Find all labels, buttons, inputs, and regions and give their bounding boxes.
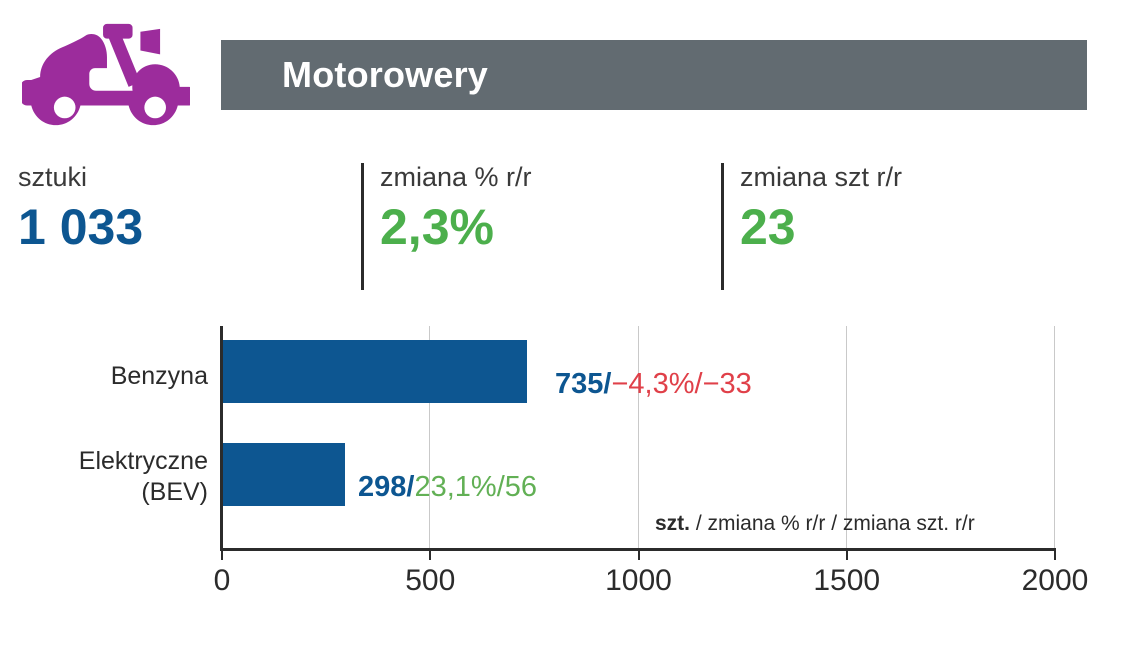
bar-benzyna[interactable] — [221, 340, 527, 403]
legend-unit: szt. — [655, 512, 690, 535]
kpi-change-abs: zmiana szt r/r 23 — [740, 160, 902, 258]
category-axis-labels: Benzyna Elektryczne (BEV) — [0, 300, 208, 550]
kpi-total: sztuki 1 033 — [18, 160, 143, 258]
gridline-1000 — [638, 326, 639, 548]
x-tick-1500 — [846, 551, 848, 560]
y-axis-line — [220, 326, 223, 550]
section-title-bar: Motorowery — [221, 40, 1087, 110]
page-title: Motorowery — [282, 54, 488, 96]
x-tick-1000 — [638, 551, 640, 560]
x-tick-500 — [429, 551, 431, 560]
chart-legend: szt. / zmiana % r/r / zmiana szt. r/r — [655, 512, 975, 536]
category-label-elektryczne: Elektryczne (BEV) — [18, 446, 208, 508]
category-label-benzyna: Benzyna — [18, 361, 208, 392]
x-tick-label-0: 0 — [214, 564, 231, 598]
kpi-divider-2 — [721, 163, 724, 290]
x-tick-label-1500: 1500 — [813, 564, 880, 598]
kpi-change-abs-label: zmiana szt r/r — [740, 160, 902, 194]
gridline-2000 — [1054, 326, 1055, 548]
kpi-change-pct-label: zmiana % r/r — [380, 160, 532, 194]
bar-elektryczne[interactable] — [221, 443, 345, 506]
kpi-total-label: sztuki — [18, 160, 143, 194]
x-tick-label-1000: 1000 — [605, 564, 672, 598]
kpi-change-pct: zmiana % r/r 2,3% — [380, 160, 532, 258]
kpi-divider-1 — [361, 163, 364, 290]
kpi-change-pct-value: 2,3% — [380, 196, 532, 258]
x-tick-2000 — [1054, 551, 1056, 560]
value-label-elektryczne: 298/23,1%/56 — [358, 473, 537, 502]
legend-rest: / zmiana % r/r / zmiana szt. r/r — [690, 512, 975, 535]
kpi-change-abs-value: 23 — [740, 196, 902, 258]
kpi-total-value: 1 033 — [18, 196, 143, 258]
x-tick-label-2000: 2000 — [1022, 564, 1089, 598]
scooter-icon — [22, 18, 190, 136]
x-tick-0 — [221, 551, 223, 560]
value-label-benzyna: 735/−4,3%/−33 — [555, 370, 752, 399]
bar-chart: Benzyna Elektryczne (BEV) 735/−4,3%/−33 … — [0, 300, 1140, 600]
x-tick-label-500: 500 — [405, 564, 455, 598]
kpi-row: sztuki 1 033 zmiana % r/r 2,3% zmiana sz… — [0, 160, 1140, 295]
